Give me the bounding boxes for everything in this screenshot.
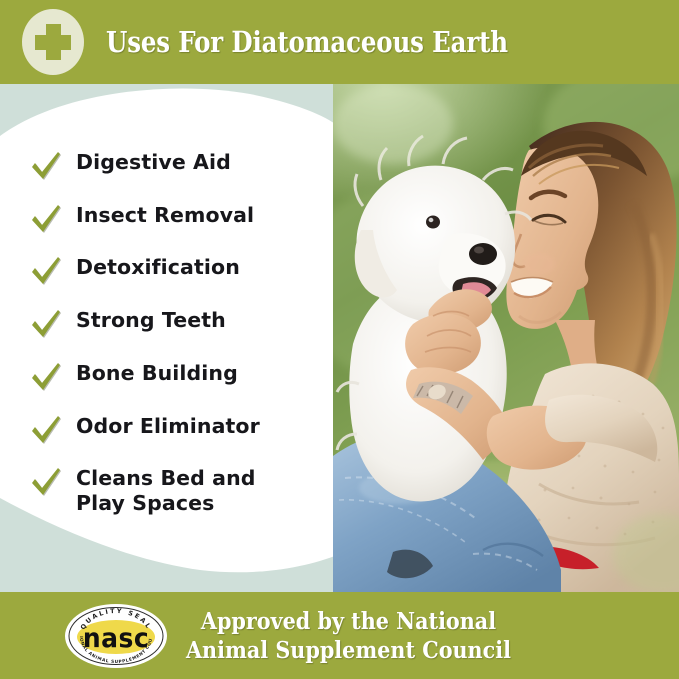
list-item: Cleans Bed and Play Spaces — [30, 466, 256, 516]
benefits-checklist: Digestive Aid Insect Removal Detoxificat… — [0, 84, 340, 592]
list-item: Digestive Aid — [30, 150, 231, 185]
list-item: Bone Building — [30, 361, 238, 396]
list-item: Odor Eliminator — [30, 414, 260, 449]
list-item-label: Cleans Bed and Play Spaces — [76, 466, 256, 516]
check-icon — [30, 467, 64, 501]
footer-approval-text: Approved by the National Animal Suppleme… — [186, 607, 511, 665]
list-item-label: Digestive Aid — [76, 150, 231, 175]
medical-plus-icon — [22, 9, 84, 75]
product-infographic: Uses For Diatomaceous Earth Digestive Ai… — [0, 0, 679, 679]
list-item: Insect Removal — [30, 203, 254, 238]
check-icon — [30, 204, 64, 238]
header-banner: Uses For Diatomaceous Earth — [0, 0, 679, 84]
list-item-label: Odor Eliminator — [76, 414, 260, 439]
seal-wordmark: nasc — [83, 623, 149, 654]
list-item-label: Insect Removal — [76, 203, 254, 228]
nasc-quality-seal: QUALITY SEAL nasc NATIONAL ANIMAL SUPPLE… — [64, 603, 168, 669]
check-icon — [30, 256, 64, 290]
page-title: Uses For Diatomaceous Earth — [106, 25, 508, 59]
footer-banner: QUALITY SEAL nasc NATIONAL ANIMAL SUPPLE… — [0, 592, 679, 679]
list-item: Strong Teeth — [30, 308, 226, 343]
check-icon — [30, 309, 64, 343]
check-icon — [30, 415, 64, 449]
list-item: Detoxification — [30, 255, 240, 290]
check-icon — [30, 362, 64, 396]
list-item-label: Bone Building — [76, 361, 238, 386]
list-item-label: Detoxification — [76, 255, 240, 280]
plus-vertical-bar — [46, 24, 61, 60]
list-item-label: Strong Teeth — [76, 308, 226, 333]
lifestyle-photo — [333, 84, 679, 592]
check-icon — [30, 151, 64, 185]
content-area: Digestive Aid Insect Removal Detoxificat… — [0, 84, 679, 592]
